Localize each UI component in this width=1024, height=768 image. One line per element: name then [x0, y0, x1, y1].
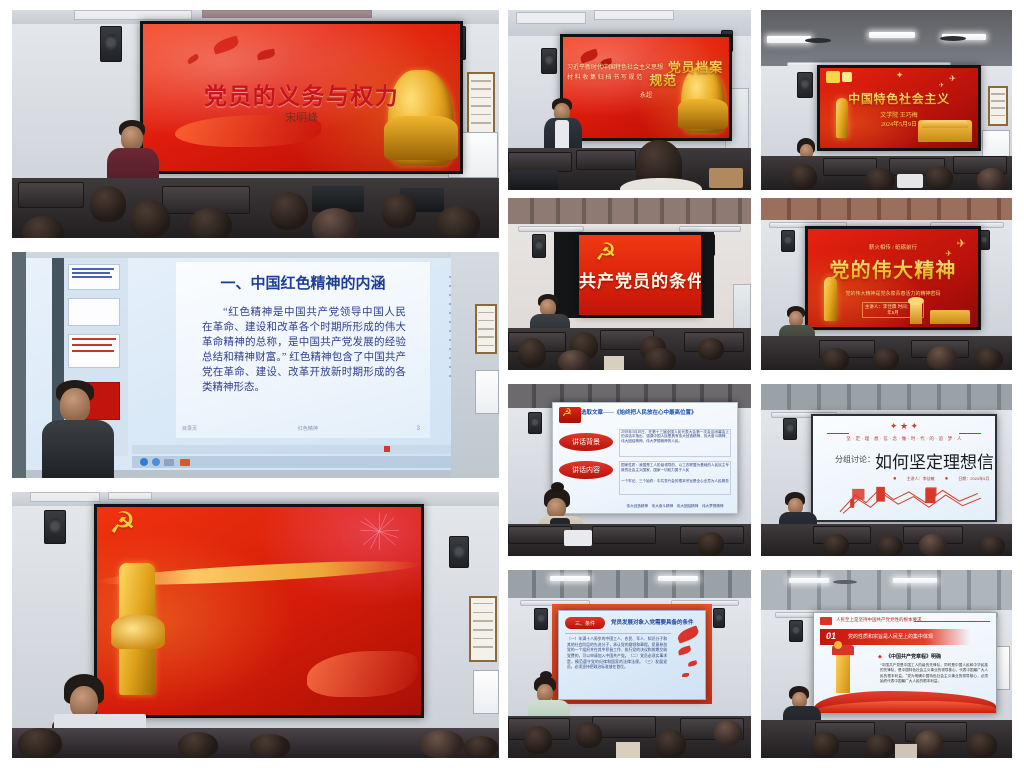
slide-presenter: 宋明峰: [143, 109, 460, 125]
speaker-icon: [534, 608, 548, 630]
photo-lecture-party-archive-standards[interactable]: 党员档案 规范 习近平新时代中国特色社会主义思想 材料收集归档书写规范 永超: [508, 10, 751, 190]
slide-body-2: 国家性质：我国是工人阶级领导的、以工农联盟为基础的人民民主专政的社会主义国家，国…: [621, 463, 729, 472]
slide-body-3: 一个牢记、三个始终：中共党代会的根本宗旨是全心全意为人民服务: [621, 479, 729, 484]
slide-body: “红色精神是中国共产党领导中国人民在革命、建设和改革各个时期所形成的伟大革命精神…: [202, 306, 406, 395]
hammer-sickle-emblem: ☭: [109, 509, 136, 539]
slide-body-4: 伟大创造精神 伟大奋斗精神 伟大团结精神 伟大梦想精神: [621, 504, 729, 509]
whiteboard: [475, 370, 499, 414]
led-screen: ☭: [94, 504, 424, 718]
slide-title: 一、中国红色精神的内涵: [176, 272, 430, 293]
speaker-icon: [532, 234, 546, 258]
photo-lecture-people-first-article[interactable]: ☭ 选取文章——《始终把人民放在心中最高位置》 讲话背景 讲话内容 2018年3…: [508, 384, 751, 556]
wall-poster: [475, 304, 497, 354]
slide-subtitle: 文学院 王巧梅: [820, 110, 978, 119]
speaker-icon: [449, 536, 469, 568]
lion-statue-graphic: [681, 67, 725, 133]
photo-collage: 党员的义务与权力 宋明峰: [0, 0, 1024, 768]
speaker-icon: [789, 620, 803, 642]
slide-header: 人民至上是坚持中国共产党党性的根本要求: [836, 617, 922, 623]
photo-lecture-socialism-chinese-characteristics[interactable]: ✦ ✈ ✈ 中国特色社会主义 文学院 王巧梅 2024年5月9日: [761, 10, 1012, 190]
led-screen: 党员的义务与权力 宋明峰: [140, 21, 463, 174]
slide-body: “中国共产党是中国工人阶级的先锋队，同时是中国人民和中华民族的先锋队，是中国特色…: [880, 663, 988, 685]
slide-subtitle-2: 材料收集归档书写规范: [567, 72, 653, 81]
photo-lecture-group-discussion-ideals[interactable]: ✦ ★ ✦ 坚 · 定 · 理 · 想 · 信 · 念 · 做 · 时 · 代 …: [761, 384, 1012, 556]
great-wall-illustration: [827, 472, 997, 518]
wall-poster: [467, 72, 495, 136]
projector-screen: ☭ 选取文章——《始终把人民放在心中最高位置》 讲话背景 讲话内容 2018年3…: [552, 402, 738, 514]
speaker-icon: [713, 608, 725, 628]
photo-lecture-red-spirit-connotation[interactable]: 一、中国红色精神的内涵 “红色精神是中国共产党领导中国人民在革命、建设和改革各个…: [12, 252, 499, 478]
slide-subtitle: 薪火相传 / 砥砺前行: [808, 243, 978, 251]
speaker-icon: [783, 418, 797, 440]
slide-tag: 三、条件: [565, 617, 605, 629]
slide-title: 共产党员的条件: [579, 267, 701, 292]
slide-section-number: 01: [826, 631, 836, 641]
slide-title: 中国特色社会主义: [820, 90, 978, 107]
photo-lecture-party-membership-requirements[interactable]: 三、条件 党员发展对象入党需要具备的条件 （一）年满十八周岁的中国工人、农民、军…: [508, 570, 751, 758]
led-screen: ☭ 共产党员的条件: [578, 234, 702, 316]
whiteboard: [473, 670, 499, 714]
slide-banner: 坚 · 定 · 理 · 想 · 信 · 念 · 做 · 时 · 代 · 的 · …: [821, 436, 987, 442]
slide-tag-content: 讲话内容: [559, 461, 613, 479]
slide-body: （一）年满十八周岁的中国工人、农民、军人、知识分子和其他社会阶层的先进分子，承认…: [567, 637, 667, 671]
photo-lecture-glorious-journey-great-achievements[interactable]: ☭: [12, 492, 499, 758]
slide-tag-background: 讲话背景: [559, 433, 613, 451]
speaker-icon: [100, 26, 122, 62]
slide-title-2: 规范: [649, 70, 677, 89]
wall-poster: [469, 596, 497, 662]
projector-screen: 人民至上是坚持中国共产党党性的根本要求 01 党的性质和宗旨是人民至上的集中体现…: [813, 612, 997, 714]
slide-page-number: 3: [417, 426, 420, 432]
door: [733, 284, 751, 334]
speaker-icon: [44, 510, 66, 544]
slide-presenter: 永超: [563, 90, 729, 99]
photo-lecture-party-member-duties[interactable]: 党员的义务与权力 宋明峰: [12, 10, 499, 238]
speaker-icon: [541, 48, 557, 74]
slide-subtitle: 习近平新时代中国特色社会主义思想: [567, 62, 670, 71]
slide-body-1: 2018年3月20日，在第十三届全国人民代表大会第一次会议闭幕会上的讲话中指出，…: [621, 430, 729, 443]
slide-bullet: 《中国共产党章程》明确: [886, 653, 941, 660]
slide-title: 党员发展对象入党需要具备的条件: [611, 618, 694, 626]
projector-screen: 三、条件 党员发展对象入党需要具备的条件 （一）年满十八周岁的中国工人、农民、军…: [558, 610, 706, 700]
slide-label: 分组讨论：: [835, 454, 875, 465]
speaker-icon: [528, 412, 542, 434]
speaker-icon: [781, 230, 795, 252]
slide-title: 如何坚定理想信念: [875, 448, 997, 473]
slide-date: 2024年5月9日: [820, 119, 978, 128]
led-screen: ✦ ★ ✦ 坚 · 定 · 理 · 想 · 信 · 念 · 做 · 时 · 代 …: [811, 414, 997, 522]
led-screen: ✈ ✈ 薪火相传 / 砥砺前行 党的伟大精神 党的伟大精神是党永葆青春活力的精神…: [805, 226, 981, 330]
slide-title: 党员的义务与权力: [143, 77, 460, 111]
slide-section-title: 党的性质和宗旨是人民至上的集中体现: [848, 633, 933, 640]
slide-title: 选取文章——《始终把人民放在心中最高位置》: [581, 408, 697, 416]
hammer-sickle-emblem: ☭: [595, 241, 617, 265]
led-screen: ✦ ✈ ✈ 中国特色社会主义 文学院 王巧梅 2024年5月9日: [817, 65, 981, 151]
speaker-icon: [797, 72, 813, 98]
photo-lecture-great-spirit-of-the-party[interactable]: ✈ ✈ 薪火相传 / 砥砺前行 党的伟大精神 党的伟大精神是党永葆青春活力的精神…: [761, 198, 1012, 370]
led-screen: 党员档案 规范 习近平新时代中国特色社会主义思想 材料收集归档书写规范 永超: [560, 34, 732, 141]
photo-lecture-communist-party-member-conditions[interactable]: ☭ 共产党员的条件: [508, 198, 751, 370]
wall-poster: [988, 86, 1008, 126]
photo-lecture-party-nature-fundamental-requirement[interactable]: 人民至上是坚持中国共产党党性的根本要求 01 党的性质和宗旨是人民至上的集中体现…: [761, 570, 1012, 758]
